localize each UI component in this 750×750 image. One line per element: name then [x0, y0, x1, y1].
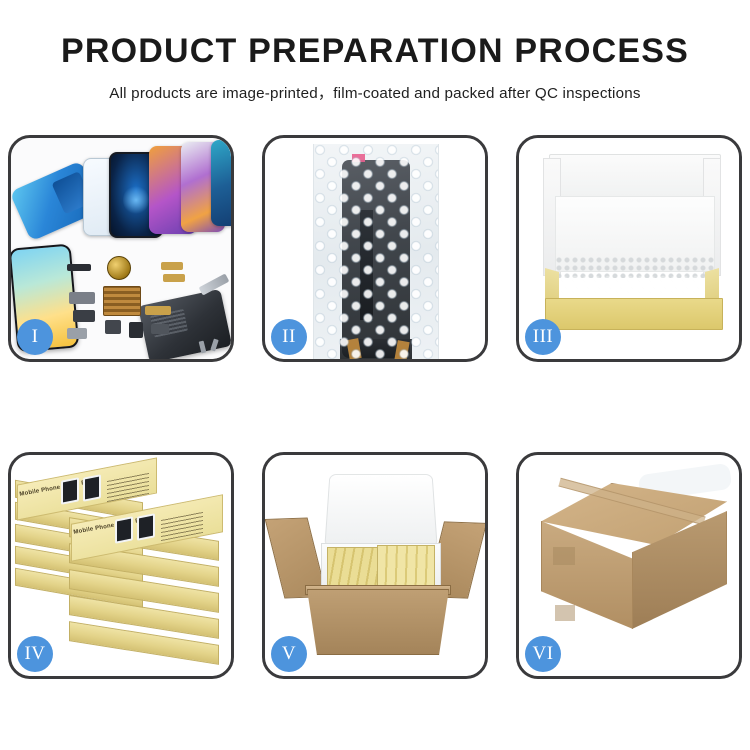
- step-panel-2: II: [262, 135, 488, 362]
- box-print-phone-icon: [137, 513, 155, 540]
- spare-part-icon: [163, 274, 185, 282]
- header: PRODUCT PREPARATION PROCESS All products…: [0, 0, 750, 103]
- yellow-box-front-panel: [545, 298, 723, 330]
- step-badge-4: IV: [17, 636, 53, 672]
- step-panel-4: Mobile Phone Spare Parts Mobile Phone Sp…: [8, 452, 234, 679]
- spare-part-icon: [67, 328, 87, 339]
- step-panel-3: III: [516, 135, 742, 362]
- box-print-phone-icon: [83, 474, 101, 501]
- carton-seam: [555, 605, 575, 621]
- page-subtitle: All products are image-printed，film-coat…: [0, 81, 750, 103]
- spare-part-icon: [69, 292, 95, 304]
- step-badge-1: I: [17, 319, 53, 355]
- spare-part-icon: [67, 264, 91, 271]
- step-panel-5: V: [262, 452, 488, 679]
- bubble-wrap-pouch: [313, 144, 439, 359]
- step-badge-2: II: [271, 319, 307, 355]
- yellow-boxes-inside: [377, 545, 435, 589]
- teal-phone-icon: [211, 140, 231, 226]
- spare-part-icon: [151, 324, 169, 334]
- carton-front-panel: [307, 589, 449, 655]
- step-panel-6: VI: [516, 452, 742, 679]
- bubble-texture: [314, 144, 438, 359]
- step-badge-3: III: [525, 319, 561, 355]
- spare-part-icon: [145, 306, 171, 315]
- step-badge-5: V: [271, 636, 307, 672]
- step-badge-6: VI: [525, 636, 561, 672]
- carton-seam: [553, 547, 575, 565]
- spare-part-icon: [129, 322, 143, 338]
- box-print-phone-icon: [61, 477, 79, 504]
- process-steps-grid: I II: [8, 135, 742, 679]
- styrofoam-lid: [324, 474, 437, 547]
- spare-part-icon: [161, 262, 183, 270]
- spare-part-icon: [73, 310, 95, 322]
- step-panel-1: I: [8, 135, 234, 362]
- speaker-coil-icon: [107, 256, 131, 280]
- spare-part-icon: [105, 320, 121, 334]
- chip-array-icon: [103, 286, 141, 316]
- box-print-phone-icon: [115, 516, 133, 543]
- page-title: PRODUCT PREPARATION PROCESS: [0, 34, 750, 70]
- infographic-page: PRODUCT PREPARATION PROCESS All products…: [0, 0, 750, 750]
